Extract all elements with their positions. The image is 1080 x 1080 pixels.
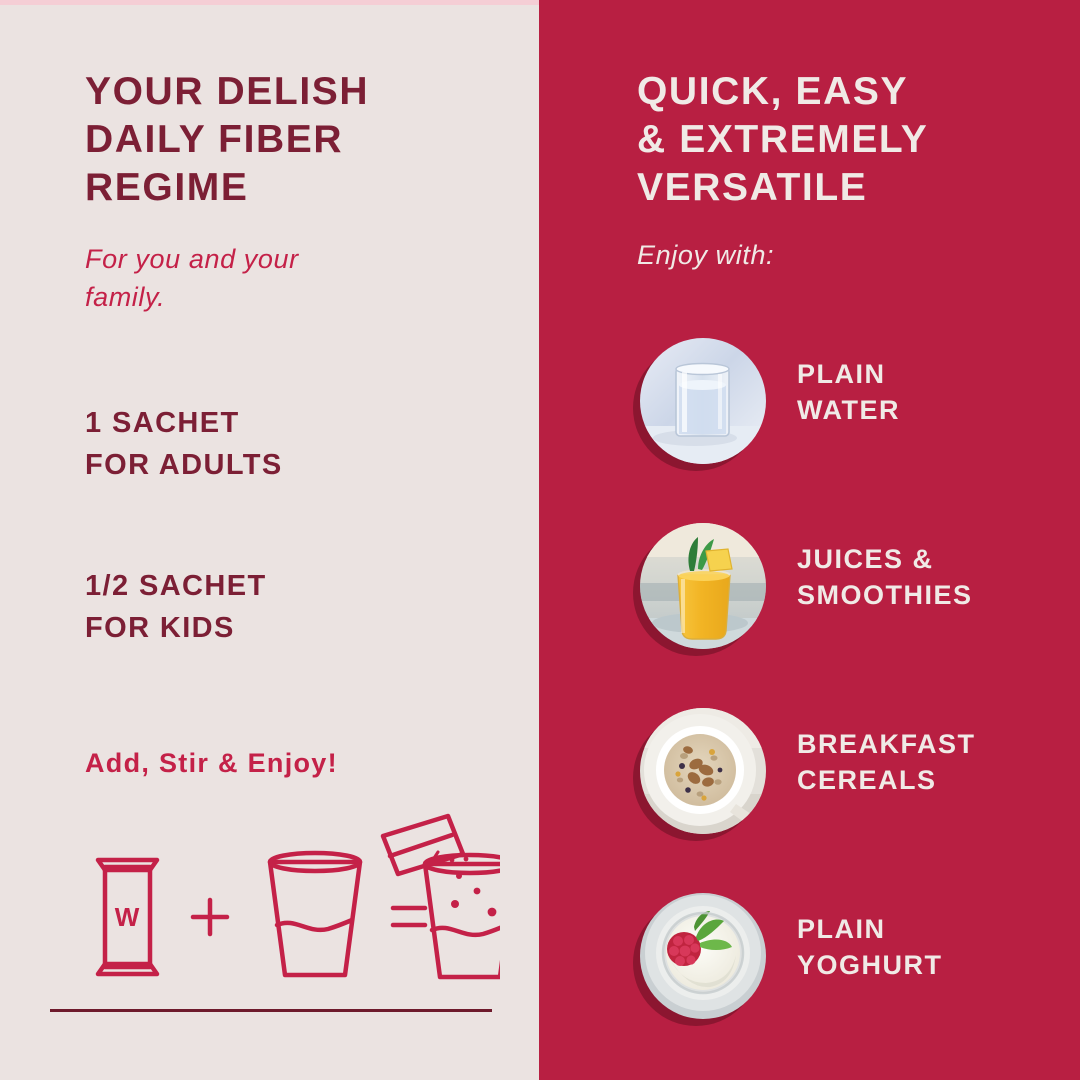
muesli-bowl-photo [640,708,766,834]
plus-icon [193,900,227,934]
bottom-divider [50,1009,492,1012]
dosage-kids: 1/2 SACHET FOR KIDS [85,565,505,649]
raspberry [667,932,701,966]
pineapple-juice-glass-photo [640,523,766,649]
yoghurt-raspberry-bowl-photo [640,893,766,1019]
equals-icon [393,908,425,925]
thumbnail [640,523,766,649]
howto-svg: W [80,812,500,987]
enjoy-with-list: PLAIN WATER [637,330,1077,1070]
page-title: YOUR DELISH DAILY FIBER REGIME [85,68,505,212]
list-item: PLAIN YOGHURT [637,885,1077,1070]
list-item: BREAKFAST CEREALS [637,700,1077,885]
dosage-adults: 1 SACHET FOR ADULTS [85,402,505,486]
list-item-label: PLAIN YOGHURT [797,911,1077,983]
list-item: PLAIN WATER [637,330,1077,515]
thumbnail [640,338,766,464]
list-item-label: BREAKFAST CEREALS [797,726,1077,798]
right-subtitle: Enjoy with: [637,240,774,271]
right-content: QUICK, EASY & EXTREMELY VERSATILE Enjoy … [637,0,1077,1080]
left-panel: YOUR DELISH DAILY FIBER REGIME For you a… [0,0,539,1080]
glass-of-water-photo [640,338,766,464]
mixed-glass-icon [425,855,500,977]
list-item-label: PLAIN WATER [797,356,1077,428]
glass-icon [270,853,360,975]
howto-illustration: W [80,812,500,987]
left-subtitle: For you and your family. [85,240,415,316]
left-content: YOUR DELISH DAILY FIBER REGIME For you a… [85,0,515,1080]
list-item: JUICES & SMOOTHIES [637,515,1077,700]
right-title: QUICK, EASY & EXTREMELY VERSATILE [637,68,1037,212]
cta-text: Add, Stir & Enjoy! [85,748,338,779]
sachet-letter: W [115,902,140,932]
top-accent-strip [0,0,539,5]
thumbnail [640,893,766,1019]
thumbnail [640,708,766,834]
right-panel: QUICK, EASY & EXTREMELY VERSATILE Enjoy … [539,0,1080,1080]
list-item-label: JUICES & SMOOTHIES [797,541,1077,613]
infographic-poster: YOUR DELISH DAILY FIBER REGIME For you a… [0,0,1080,1080]
